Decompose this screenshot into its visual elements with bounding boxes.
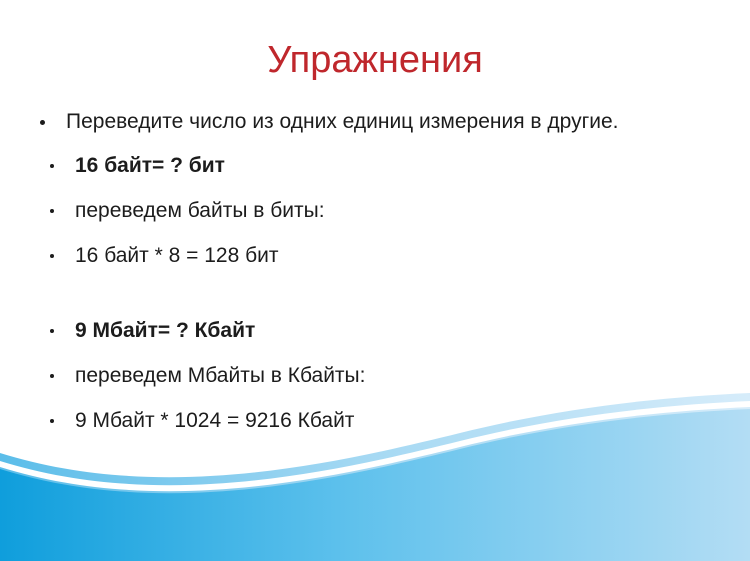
list-item: переведем Мбайты в Кбайты: — [28, 362, 688, 389]
list-item: 16 байт= ? бит — [28, 152, 688, 179]
bullet-dot-icon — [50, 254, 54, 258]
list-item: Переведите число из одних единиц измерен… — [28, 108, 688, 135]
page-title: Упражнения — [0, 38, 750, 82]
list-item-label: переведем Мбайты в Кбайты: — [75, 362, 688, 389]
bullet-list: Переведите число из одних единиц измерен… — [28, 108, 688, 434]
list-item-label: переведем байты в биты: — [75, 197, 688, 224]
bullet-dot-icon — [50, 164, 54, 168]
list-item-label: 9 Мбайт * 1024 = 9216 Кбайт — [75, 407, 688, 434]
slide-canvas: Упражнения Переведите число из одних еди… — [0, 0, 750, 561]
list-item-label: 9 Мбайт= ? Кбайт — [75, 317, 688, 344]
list-item: 9 Мбайт * 1024 = 9216 Кбайт — [28, 407, 688, 434]
bullet-dot-icon — [50, 209, 54, 213]
list-item: переведем байты в биты: — [28, 197, 688, 224]
list-item-spacer — [28, 269, 688, 299]
list-item: 9 Мбайт= ? Кбайт — [28, 317, 688, 344]
list-item-label: 16 байт= ? бит — [75, 152, 688, 179]
list-item-label: 16 байт * 8 = 128 бит — [75, 242, 688, 269]
bullet-dot-icon — [50, 374, 54, 378]
list-item: 16 байт * 8 = 128 бит — [28, 242, 688, 269]
bullet-dot-icon — [50, 419, 54, 423]
bullet-dot-icon — [50, 329, 54, 333]
list-item-label: Переведите число из одних единиц измерен… — [66, 108, 688, 135]
bullet-dot-icon — [40, 120, 45, 125]
